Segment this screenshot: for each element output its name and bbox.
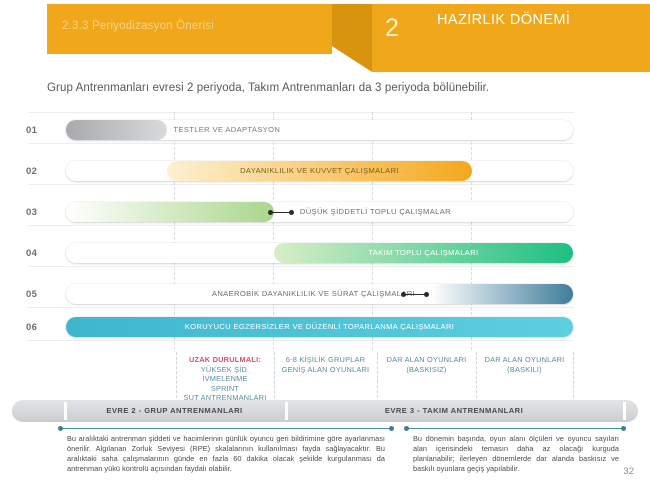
phase-label-2: EVRE 3 - TAKIM ANTRENMANLARI	[285, 400, 623, 422]
chart-bar-label-06: KORUYUCU EGZERSİZLER VE DÜZENLİ TOPARLAN…	[66, 317, 573, 337]
caption-separator	[274, 352, 275, 398]
caption-separator	[476, 352, 477, 398]
slide-page: 2.3.3 Periyodizasyon Önerisi 2 HAZIRLIK …	[0, 0, 650, 488]
chart-row-number-04: 04	[26, 248, 48, 259]
chart-rowline	[28, 184, 574, 185]
caption-column-1: UZAK DURULMALI:YÜKSEK ŞİD. İVMELENMESPRI…	[179, 355, 271, 403]
chart-connector-05	[401, 290, 429, 299]
note-right-dot-end	[621, 426, 626, 431]
phase-tick	[623, 402, 626, 420]
chart-gridline	[372, 112, 373, 350]
chart-rowline	[28, 143, 574, 144]
periodization-chart: 01TESTLER VE ADAPTASYON02DAYANIKLILIK VE…	[0, 112, 650, 352]
caption-column-3: DAR ALAN OYUNLARI(BASKISIZ)	[380, 355, 473, 374]
caption-line: SPRINT	[179, 384, 271, 394]
connector-line	[404, 294, 426, 295]
chart-bar-03[interactable]	[66, 202, 274, 222]
chart-connector-03	[268, 208, 294, 217]
chart-rowline	[28, 112, 574, 113]
header-title: HAZIRLIK DÖNEMİ	[437, 12, 570, 28]
caption-line: DAR ALAN OYUNLARI	[479, 355, 570, 365]
chart-gridline	[174, 112, 175, 350]
chart-bar-label-01: TESTLER VE ADAPTASYON	[173, 120, 280, 140]
note-left-rule	[61, 428, 391, 429]
connector-dot	[424, 292, 429, 297]
lead-paragraph: Grup Antrenmanları evresi 2 periyoda, Ta…	[47, 82, 607, 94]
note-left-dot-end	[389, 426, 394, 431]
connector-dot	[289, 210, 294, 215]
header-bevel-shape	[332, 4, 372, 72]
connector-line	[271, 212, 291, 213]
chart-rowline	[28, 225, 574, 226]
chart-rowline	[28, 266, 574, 267]
caption-column-4: DAR ALAN OYUNLARI(BASKILI)	[479, 355, 570, 374]
caption-line: GENİŞ ALAN OYUNLARI	[277, 365, 374, 375]
chart-bar-01[interactable]	[66, 120, 167, 140]
chart-bar-05[interactable]	[431, 284, 573, 304]
header-chapter-number: 2	[385, 16, 399, 41]
slide-header: 2.3.3 Periyodizasyon Önerisi 2 HAZIRLIK …	[0, 0, 650, 72]
phase-bar: EVRE 2 - GRUP ANTRENMANLARIEVRE 3 - TAKI…	[12, 400, 638, 422]
chart-gridline	[273, 112, 274, 350]
note-right-text: Bu dönemin başında, oyun alanı ölçüleri …	[413, 434, 619, 474]
caption-line: (BASKILI)	[479, 365, 570, 375]
caption-line: 6-8 KİŞİLİK GRUPLAR	[277, 355, 374, 365]
caption-separator	[377, 352, 378, 398]
chart-bar-label-03: DÜŞÜK ŞİDDETLİ TOPLU ÇALIŞMALAR	[300, 202, 451, 222]
chart-row-number-06: 06	[26, 322, 48, 333]
page-number: 32	[623, 466, 634, 477]
phase-label-1: EVRE 2 - GRUP ANTRENMANLARI	[64, 400, 285, 422]
column-captions: UZAK DURULMALI:YÜKSEK ŞİD. İVMELENMESPRI…	[0, 352, 650, 398]
chart-bar-label-05: ANAEROBİK DAYANIKLILIK VE SÜRAT ÇALIŞMAL…	[0, 284, 415, 304]
chart-row-number-03: 03	[26, 207, 48, 218]
caption-line: (BASKISIZ)	[380, 365, 473, 375]
note-right-dot-start	[404, 426, 409, 431]
note-left-text: Bu aralıktaki antrenman şiddeti ve hacim…	[67, 434, 385, 474]
caption-line: DAR ALAN OYUNLARI	[380, 355, 473, 365]
caption-column-2: 6-8 KİŞİLİK GRUPLARGENİŞ ALAN OYUNLARI	[277, 355, 374, 374]
caption-separator	[176, 352, 177, 398]
caption-highlight: UZAK DURULMALI:	[179, 355, 271, 365]
chart-bar-label-02: DAYANIKLILIK VE KUVVET ÇALIŞMALARI	[167, 161, 471, 181]
chart-rowline	[28, 340, 574, 341]
note-right-rule	[407, 428, 623, 429]
header-subtitle: 2.3.3 Periyodizasyon Önerisi	[62, 20, 322, 32]
chart-gridline	[471, 112, 472, 350]
chart-bar-label-04: TAKIM TOPLU ÇALIŞMALARI	[274, 243, 573, 263]
caption-line: YÜKSEK ŞİD. İVMELENME	[179, 365, 271, 384]
chart-row-number-02: 02	[26, 166, 48, 177]
caption-separator	[573, 352, 574, 398]
chart-row-number-01: 01	[26, 125, 48, 136]
note-left-dot-start	[58, 426, 63, 431]
chart-rowline	[28, 307, 574, 308]
